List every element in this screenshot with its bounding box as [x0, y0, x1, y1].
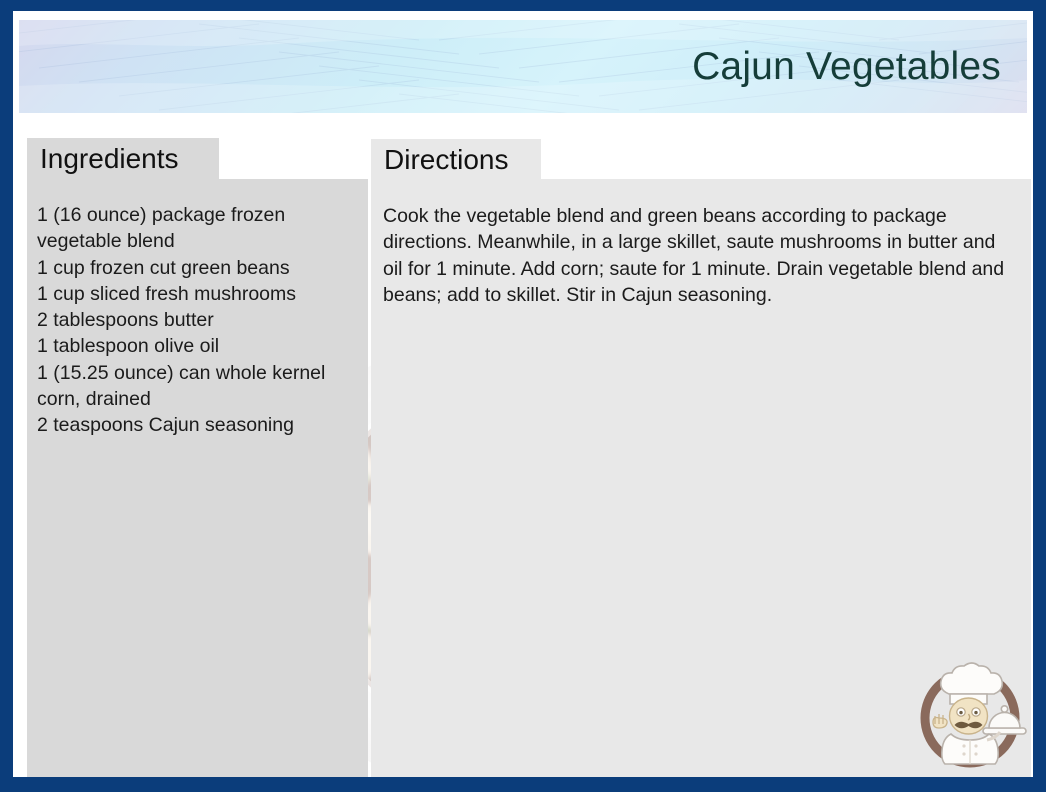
- header-banner: Cajun Vegetables: [19, 20, 1027, 113]
- ingredients-list: 1 (16 ounce) package frozen vegetable bl…: [27, 179, 368, 439]
- ingredient-item: 2 tablespoons butter: [37, 307, 354, 333]
- chef-logo-icon: [909, 656, 1031, 774]
- ingredients-panel: 1 (16 ounce) package frozen vegetable bl…: [27, 179, 368, 777]
- ingredient-item: 1 (15.25 ounce) can whole kernel corn, d…: [37, 360, 354, 413]
- ingredient-item: 2 teaspoons Cajun seasoning: [37, 412, 354, 438]
- section-tab-directions: Directions: [371, 139, 541, 180]
- section-tab-directions-label: Directions: [384, 144, 508, 176]
- recipe-card: Cajun Vegetables Ingredients 1 (16 ounce…: [0, 0, 1046, 792]
- section-tab-ingredients-label: Ingredients: [40, 143, 179, 175]
- page-title: Cajun Vegetables: [692, 45, 1001, 89]
- card-inner-surface: Cajun Vegetables Ingredients 1 (16 ounce…: [13, 11, 1033, 777]
- ingredient-item: 1 (16 ounce) package frozen vegetable bl…: [37, 202, 354, 255]
- ingredient-item: 1 cup frozen cut green beans: [37, 255, 354, 281]
- section-tab-ingredients: Ingredients: [27, 138, 219, 179]
- directions-body-text: Cook the vegetable blend and green beans…: [371, 179, 1031, 308]
- ingredient-item: 1 cup sliced fresh mushrooms: [37, 281, 354, 307]
- ingredient-item: 1 tablespoon olive oil: [37, 333, 354, 359]
